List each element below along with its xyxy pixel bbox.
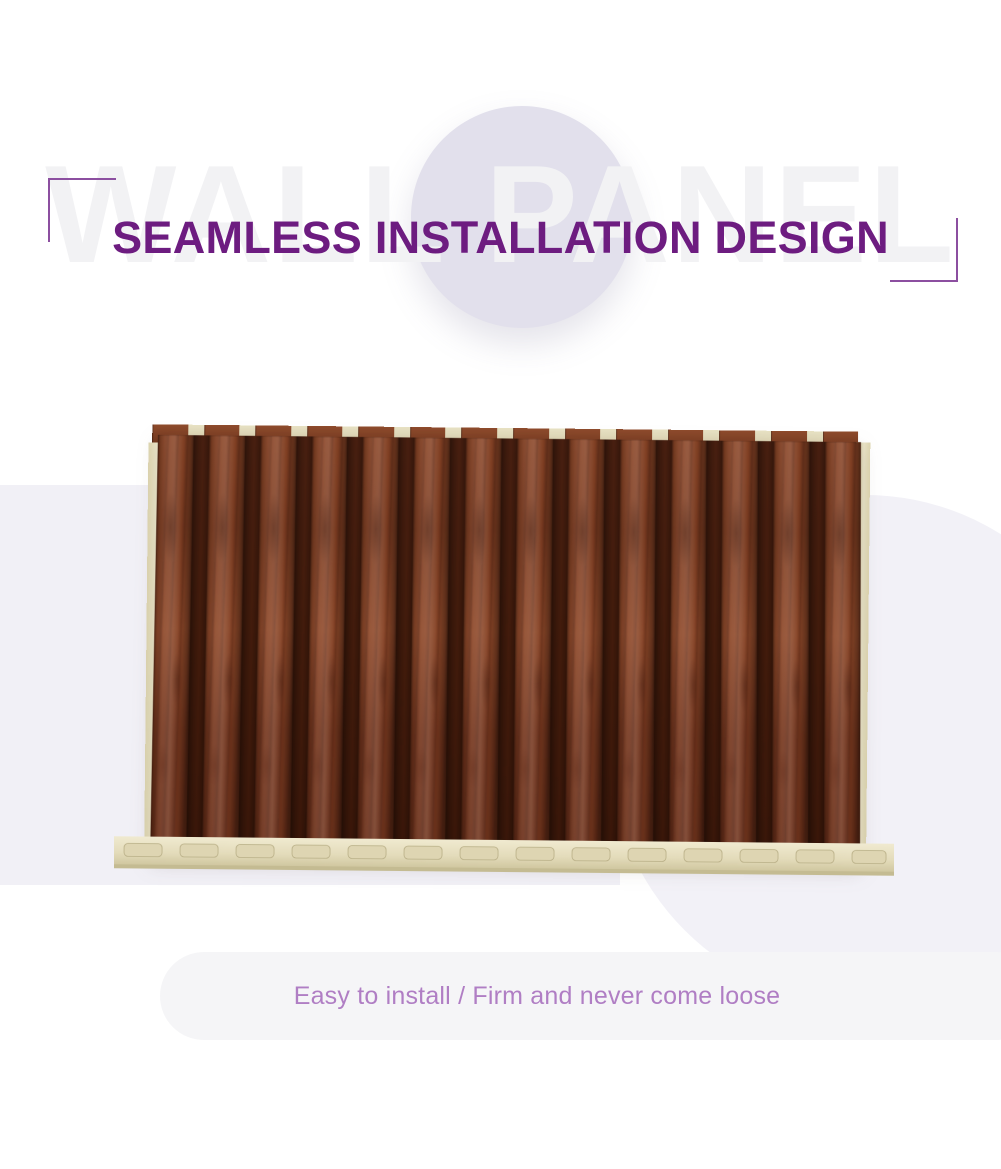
wall-panel-feature-banner: WALL PANEL SEAMLESS INSTALLATION DESIGN [0,0,1001,1169]
panel-groove [756,441,774,865]
panel-slat [617,440,656,864]
panel-slat [513,439,553,863]
panel-slat [824,442,861,866]
panel-stage [100,420,910,900]
panel-slat [306,436,348,860]
panel-groove [808,442,825,866]
panel-slat-row [150,435,861,866]
panel-bottom-profile [114,834,894,883]
panel-slat [772,441,809,865]
panel-slat [409,438,450,862]
product-image-slatted-wall-panel [100,420,910,900]
caption-text: Easy to install / Firm and never come lo… [160,952,914,1040]
panel-slat [565,439,604,863]
panel-slat [669,440,707,864]
panel-slat [720,441,758,865]
panel-slat [357,437,398,861]
page-title: SEAMLESS INSTALLATION DESIGN [0,214,1001,261]
title-block: SEAMLESS INSTALLATION DESIGN [0,170,1001,290]
panel-slat [461,438,501,862]
